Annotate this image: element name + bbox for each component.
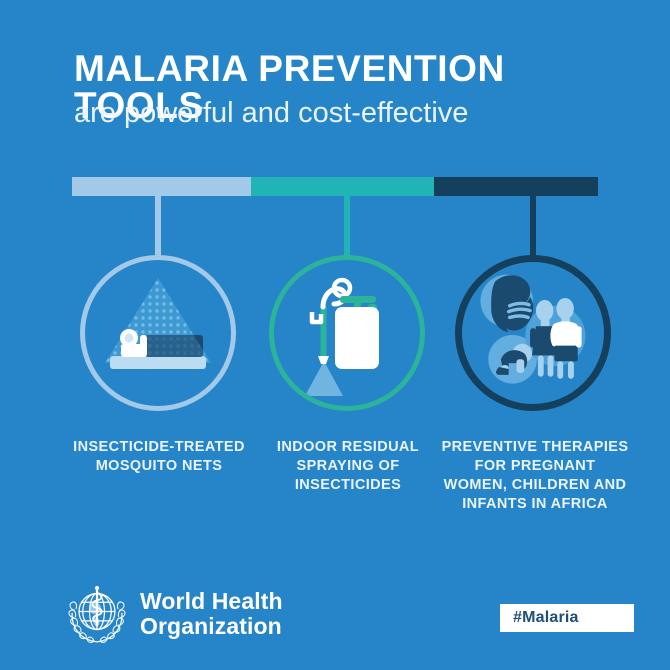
caption-therapies-line1: PREVENTIVE THERAPIES bbox=[442, 439, 629, 455]
caption-therapies-line2: FOR PREGNANT bbox=[475, 458, 596, 474]
connector-stem-nets bbox=[155, 196, 161, 258]
who-wordmark-line1: World Health bbox=[140, 589, 283, 614]
connector-stem-therapies bbox=[530, 196, 536, 258]
connector-stem-spraying bbox=[344, 196, 350, 258]
pregnant-woman-silhouette bbox=[491, 275, 533, 332]
bar-segment-nets bbox=[72, 177, 251, 196]
who-logo: World Health Organization bbox=[66, 583, 283, 645]
caption-spraying-line1: INDOOR RESIDUAL bbox=[277, 439, 419, 455]
who-wordmark: World Health Organization bbox=[140, 589, 283, 639]
hashtag-badge: #Malaria bbox=[500, 604, 634, 632]
bar-segment-therapies bbox=[434, 177, 598, 196]
caption-nets-line1: INSECTICIDE-TREATED bbox=[73, 439, 245, 455]
who-emblem-icon bbox=[66, 583, 128, 645]
pregnant-woman-and-children-icon bbox=[462, 262, 604, 404]
caption-therapies-line4: INFANTS IN AFRICA bbox=[462, 496, 608, 512]
icon-circle-nets bbox=[80, 255, 236, 411]
caption-spraying: INDOOR RESIDUAL SPRAYING OF INSECTICIDES bbox=[262, 438, 434, 495]
infographic-canvas: MALARIA PREVENTION TOOLS are powerful an… bbox=[0, 0, 670, 670]
caption-spraying-line3: INSECTICIDES bbox=[295, 477, 401, 493]
icon-circle-therapies bbox=[455, 255, 611, 411]
sprayer-icon bbox=[274, 260, 420, 406]
caption-nets: INSECTICIDE-TREATED MOSQUITO NETS bbox=[70, 438, 248, 476]
bar-segment-spraying bbox=[251, 177, 434, 196]
bed-net-icon bbox=[85, 260, 231, 406]
caption-therapies-line3: WOMEN, CHILDREN AND bbox=[444, 477, 627, 493]
who-wordmark-line2: Organization bbox=[140, 614, 283, 639]
caption-therapies: PREVENTIVE THERAPIES FOR PREGNANT WOMEN,… bbox=[437, 438, 633, 515]
icon-circle-spraying bbox=[269, 255, 425, 411]
caption-nets-line2: MOSQUITO NETS bbox=[96, 458, 223, 474]
caption-spraying-line2: SPRAYING OF bbox=[297, 458, 400, 474]
page-subtitle: are powerful and cost-effective bbox=[74, 96, 634, 131]
segmented-bar bbox=[72, 177, 598, 196]
